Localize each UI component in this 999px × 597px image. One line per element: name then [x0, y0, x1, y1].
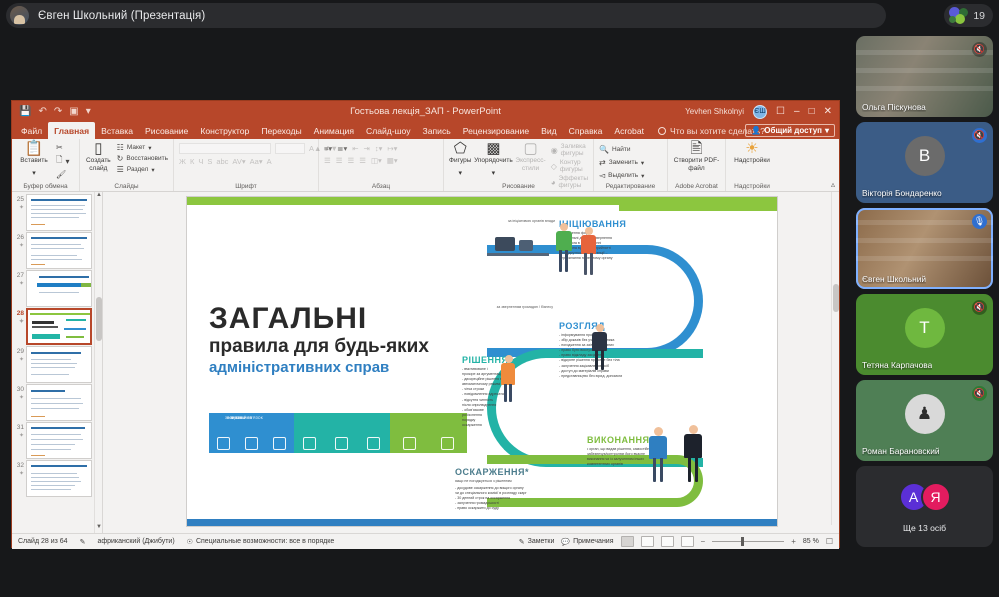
slide-top-accent-bar: [187, 197, 777, 205]
group-label-slides: Слайды: [80, 183, 173, 190]
ribbon-group-editing: 🔍Найти ⇄Заменить▾ ◅Выделить▾ Редактирова…: [594, 139, 668, 191]
tab-view[interactable]: Вид: [535, 122, 563, 139]
chevron-down-icon: ▾: [641, 172, 644, 180]
participant-name: Ольга Піскунова: [862, 102, 926, 112]
language-indicator[interactable]: африканский (Джибути): [97, 538, 174, 545]
thumbnail-item[interactable]: 26✦: [12, 232, 102, 270]
zoom-level[interactable]: 85 %: [803, 538, 819, 545]
participant-name: Вікторія Бондаренко: [862, 188, 942, 198]
ribbon-group-paragraph: ≡▾ ≣▾ ⇤ ⇥ ↕▾ ↦▾ ☰ ☰ ☰ ☰ ◫▾ ▦▾: [319, 139, 444, 191]
participant-tile[interactable]: 🔇 В Вікторія Бондаренко: [856, 122, 993, 203]
thumbnail-item[interactable]: 27✦: [12, 270, 102, 308]
slide-bottom-accent-bar: [187, 519, 777, 526]
active-slide[interactable]: ЗАГАЛЬНІ правила для будь-яких адміністр…: [186, 196, 778, 527]
layout-label: Макет: [127, 144, 145, 151]
thumbnail-number: 31: [17, 424, 24, 431]
scroll-up-icon[interactable]: ▲: [95, 192, 103, 201]
lightbulb-icon: [658, 127, 666, 135]
group-label-acrobat: Adobe Acrobat: [668, 183, 725, 190]
change-case-icon[interactable]: Aa▾: [250, 157, 263, 166]
section-heading: РОЗГЛЯД: [559, 321, 669, 331]
presenter-avatar: [10, 6, 29, 25]
section-heading: ОСКАРЖЕННЯ*: [455, 467, 585, 477]
participant-name: Роман Барановский: [862, 446, 940, 456]
tag-citizen-request: за зверненням громадян / бізнесу: [477, 305, 553, 310]
desk-illustration: [487, 233, 549, 271]
thumbnail-item[interactable]: 32✦: [12, 460, 102, 498]
section-label: Раздел: [127, 166, 148, 173]
thumbnail-item[interactable]: 30✦: [12, 384, 102, 422]
tab-design[interactable]: Конструктор: [194, 122, 255, 139]
copy-icon: 🗋: [56, 154, 62, 168]
italic-icon[interactable]: К: [190, 157, 194, 166]
thumbnail-number: 25: [17, 196, 24, 203]
tab-help[interactable]: Справка: [563, 122, 609, 139]
present-icon[interactable]: ▣: [69, 107, 78, 117]
tab-slideshow[interactable]: Слайд-шоу: [360, 122, 417, 139]
ribbon-group-addins: ☀ Надстройки Надстройки: [726, 139, 778, 191]
replace-button[interactable]: ⇄Заменить▾: [599, 158, 644, 167]
icon-bar-segment-feedback: ЗВОРОТНІЙ ЗВ'ЯЗОК: [294, 413, 390, 453]
ribbon-group-slides: ▯ Создать слайд ☷Макет▾ ↻Восстановить ☰Р…: [80, 139, 174, 191]
more-avatars: А Я: [899, 482, 951, 512]
create-pdf-button[interactable]: 🖹 Створити PDF-файл: [673, 141, 720, 172]
mic-muted-icon: 🔇: [972, 42, 987, 57]
group-label-clipboard: Буфер обмена: [12, 183, 79, 190]
slideshow-view-button[interactable]: [681, 536, 694, 547]
presenter-title: Євген Школьний (Презентація): [38, 10, 205, 22]
layout-button[interactable]: ☷Макет▾: [117, 143, 168, 152]
mic-muted-icon: 🔇: [972, 128, 987, 143]
zoom-out-button[interactable]: −: [701, 537, 706, 546]
replace-icon: ⇄: [599, 158, 606, 167]
layout-icon: ☷: [117, 143, 124, 152]
tab-record[interactable]: Запись: [417, 122, 457, 139]
align-left-icon[interactable]: ☰: [324, 156, 331, 165]
find-button[interactable]: 🔍Найти: [599, 145, 644, 154]
thumbnail-preview[interactable]: [26, 460, 92, 497]
numbering-icon[interactable]: ≣▾: [337, 144, 347, 153]
shadow-icon[interactable]: S: [207, 157, 212, 166]
tab-home[interactable]: Главная: [48, 122, 95, 139]
restore-button[interactable]: □: [809, 107, 815, 117]
editor-body: 25✦ 26✦: [12, 192, 839, 533]
char-spacing-icon[interactable]: AV▾: [232, 157, 245, 166]
participant-tile[interactable]: 🔇 Т Тетяна Карпачова: [856, 294, 993, 375]
paste-icon: 📋: [25, 141, 44, 156]
zoom-slider[interactable]: [712, 541, 784, 543]
conference-top-bar: Євген Школьний (Презентація) 19: [0, 0, 999, 31]
font-family-select[interactable]: [179, 143, 271, 154]
shape-outline-icon: ◇: [551, 162, 557, 171]
ribbon-tab-strip: Файл Главная Вставка Рисование Конструкт…: [12, 122, 839, 139]
account-name: Yevhen Shkolnyi: [685, 107, 744, 116]
scrollbar-thumb[interactable]: [833, 284, 839, 312]
increase-indent-icon[interactable]: ⇥: [364, 144, 370, 153]
scissors-icon: ✂: [56, 143, 63, 152]
scroll-down-icon[interactable]: ▼: [95, 524, 103, 533]
bold-icon[interactable]: Ж: [179, 157, 186, 166]
slide-accent-block: [619, 205, 778, 211]
more-participants-label: Ще 13 осіб: [856, 523, 993, 533]
group-label-addins: Надстройки: [726, 183, 778, 190]
thumbnail-preview[interactable]: [26, 270, 92, 307]
thumbnail-number: 32: [17, 462, 24, 469]
slide-title-line2: правила для будь-яких: [209, 335, 489, 358]
close-button[interactable]: ✕: [824, 107, 832, 117]
chevron-down-icon: ▾: [825, 126, 829, 135]
line-spacing-icon[interactable]: ↕▾: [375, 144, 383, 153]
shape-fill-button[interactable]: ◉Заливка фигуры: [551, 143, 588, 157]
participant-name: Євген Школьний: [862, 274, 926, 284]
notes-button[interactable]: ✎ Заметки: [519, 538, 555, 546]
decrease-indent-icon[interactable]: ⇤: [352, 144, 358, 153]
pdf-icon: 🖹: [690, 141, 702, 156]
animation-star-icon: ✦: [14, 204, 24, 212]
chevron-down-icon: ▾: [148, 144, 151, 152]
monitor-icon: [495, 237, 515, 251]
section-initiation: ІНІЦІЮВАННЯ - спрощення форми - мінімаль…: [559, 219, 669, 262]
thumbnail-number: 28: [17, 310, 24, 317]
thumbnail-preview[interactable]: [26, 194, 92, 231]
title-bar-right: Yevhen Shkolnyi ЄШ ☐ – □ ✕: [685, 105, 839, 119]
accessibility-icon: ☉: [187, 538, 193, 546]
align-right-icon[interactable]: ☰: [347, 156, 354, 165]
arrange-icon: ▩: [486, 141, 500, 156]
minimize-button[interactable]: –: [794, 107, 800, 117]
group-label-font: Шрифт: [174, 183, 318, 190]
avatar: Т: [905, 308, 945, 348]
paste-button[interactable]: 📋 Вставить ▾: [17, 141, 51, 181]
find-label: Найти: [612, 146, 631, 153]
slide-thumbnail-pane[interactable]: 25✦ 26✦: [12, 192, 103, 533]
addins-icon: ☀: [745, 141, 758, 156]
form-icon: [273, 437, 286, 450]
text-direction-icon[interactable]: ↦▾: [387, 144, 397, 153]
account-avatar[interactable]: ЄШ: [753, 105, 767, 119]
normal-view-button[interactable]: [621, 536, 634, 547]
redo-icon[interactable]: ↷: [54, 107, 62, 117]
align-center-icon[interactable]: ☰: [336, 156, 343, 165]
accessibility-label: Специальные возможности: все в порядке: [196, 538, 334, 545]
chevron-down-icon: ▾: [151, 166, 154, 174]
bullets-icon[interactable]: ≡▾: [324, 144, 332, 153]
reset-icon: ↻: [117, 154, 124, 163]
quick-access-toolbar: 💾 ↶ ↷ ▣ ▾: [12, 107, 91, 117]
section-subtitle: якщо не погоджується з рішенням: [455, 479, 585, 484]
participant-count: 19: [973, 10, 985, 22]
ribbon-group-clipboard: 📋 Вставить ▾ ✂ 🗋▾ 🖌 Буфер обмена: [12, 139, 80, 191]
thumbnail-number: 26: [17, 234, 24, 241]
ribbon-group-acrobat: 🖹 Створити PDF-файл Adobe Acrobat: [668, 139, 726, 191]
tab-animations[interactable]: Анимация: [308, 122, 360, 139]
section-bullets: - спрощення форми - мінімальні дані для …: [559, 231, 669, 262]
animation-star-icon: ✦: [14, 356, 24, 364]
status-bar: Слайд 28 из 64 ✎ африканский (Джибути) ☉…: [12, 533, 839, 549]
slide-sorter-view-button[interactable]: [641, 536, 654, 547]
addins-button[interactable]: ☀ Надстройки: [731, 141, 773, 165]
notes-icon: ✎: [519, 538, 525, 546]
zoom-in-button[interactable]: +: [791, 537, 796, 546]
reading-view-button[interactable]: [661, 536, 674, 547]
thumbnail-number: 30: [17, 386, 24, 393]
participant-count-pill[interactable]: 19: [944, 4, 993, 27]
slide-title-block: ЗАГАЛЬНІ правила для будь-яких адміністр…: [209, 303, 489, 377]
slide-title-line1: ЗАГАЛЬНІ: [209, 303, 489, 335]
justify-icon[interactable]: ☰: [359, 156, 366, 165]
mic-muted-icon: 🔇: [972, 386, 987, 401]
format-painter-button[interactable]: 🖌: [56, 170, 69, 179]
powerpoint-window: 💾 ↶ ↷ ▣ ▾ Гостьова лекція_ЗАП - PowerPoi…: [11, 100, 840, 548]
thumbnail-item[interactable]: 29✦: [12, 346, 102, 384]
quick-styles-icon: ▢: [523, 141, 537, 156]
chevron-down-icon[interactable]: ▾: [32, 166, 36, 181]
person-icon: [217, 437, 230, 450]
thumbnail-scrollbar[interactable]: ▲ ▼: [94, 192, 102, 533]
group-label-drawing: Рисование: [444, 183, 593, 190]
thumbnail-number: 27: [17, 272, 24, 279]
section-consideration: РОЗГЛЯД - інформування про розгляд - збі…: [559, 321, 669, 379]
section-appeal: ОСКАРЖЕННЯ* якщо не погоджується з рішен…: [455, 467, 585, 511]
section-heading: ІНІЦІЮВАННЯ: [559, 219, 669, 229]
animation-star-icon: ✦: [14, 318, 24, 326]
share-icon: 👤: [751, 126, 761, 135]
undo-icon[interactable]: ↶: [38, 107, 46, 117]
comments-button[interactable]: 💬 Примечания: [561, 538, 613, 546]
reset-button[interactable]: ↻Восстановить: [117, 154, 168, 163]
collapse-ribbon-icon[interactable]: ▵: [831, 180, 835, 189]
mic-muted-icon: 🔇: [972, 300, 987, 315]
shapes-label: Фигуры: [449, 157, 471, 165]
share-label: Общий доступ: [764, 126, 822, 135]
clock-icon: [367, 437, 380, 450]
font-color-icon[interactable]: A: [267, 157, 272, 166]
slide-canvas-area: ЗАГАЛЬНІ правила для будь-яких адміністр…: [103, 192, 839, 533]
thumbnail-preview[interactable]: [26, 422, 92, 459]
presenter-title-pill[interactable]: Євген Школьний (Презентація): [6, 3, 886, 28]
shape-fill-label: Заливка фигуры: [561, 143, 588, 157]
new-slide-button[interactable]: ▯ Создать слайд: [85, 141, 112, 172]
thumbnail-item-selected[interactable]: 28✦: [12, 308, 102, 346]
thumbnail-preview[interactable]: [26, 232, 92, 269]
check-icon: [403, 437, 416, 450]
avatar: Я: [921, 482, 951, 512]
scales-icon: [335, 437, 348, 450]
group-label-editing: Редактирование: [594, 183, 667, 190]
tab-transitions[interactable]: Переходы: [255, 122, 307, 139]
animation-star-icon: ✦: [14, 242, 24, 250]
tag-initiated-by-authority: за ініціативою органів влади: [487, 219, 555, 224]
group-label-paragraph: Абзац: [319, 183, 443, 190]
replace-label: Заменить: [609, 159, 638, 166]
shapes-icon: ⬠: [454, 141, 467, 156]
new-slide-icon: ▯: [94, 141, 102, 156]
icon-bar-segment-final: ФІНАЛ: [390, 413, 467, 453]
comments-label: Примечания: [573, 538, 613, 545]
fit-to-window-icon[interactable]: ☐: [826, 537, 833, 546]
powerpoint-title-bar: 💾 ↶ ↷ ▣ ▾ Гостьова лекція_ЗАП - PowerPoi…: [12, 101, 839, 122]
customize-quick-access-icon[interactable]: ▾: [86, 107, 91, 117]
notes-label: Заметки: [528, 538, 555, 545]
brush-icon: 🖌: [56, 170, 66, 179]
tab-review[interactable]: Рецензирование: [457, 122, 535, 139]
animation-star-icon: ✦: [14, 280, 24, 288]
underline-icon[interactable]: Ч: [198, 157, 203, 166]
thumbnail-preview[interactable]: [26, 308, 92, 345]
shapes-button[interactable]: ⬠ Фигуры ▾: [449, 141, 471, 181]
document-icon: [245, 437, 258, 450]
more-participants-tile[interactable]: А Я Ще 13 осіб: [856, 466, 993, 547]
monitor-secondary-icon: [519, 240, 533, 251]
slide-title-line3: адміністративних справ: [209, 358, 489, 377]
shape-outline-label: Контур фигуры: [560, 159, 588, 173]
thumbnail-item[interactable]: 31✦: [12, 422, 102, 460]
arrange-button[interactable]: ▩ Упорядочить ▾: [476, 141, 510, 181]
conference-presentation-screen: Євген Школьний (Презентація) 19 💾 ↶ ↷ ▣ …: [0, 0, 999, 597]
strikethrough-icon[interactable]: abc: [216, 157, 228, 166]
accessibility-indicator[interactable]: ☉ Специальные возможности: все в порядке: [187, 538, 335, 546]
participant-tile[interactable]: 🔇 ♟ Роман Барановский: [856, 380, 993, 461]
reset-label: Восстановить: [126, 155, 168, 162]
participant-rail: 🔇 Ольга Піскунова 🔇 В Вікторія Бондаренк…: [850, 36, 999, 589]
participant-tile[interactable]: 🔇 Ольга Піскунова: [856, 36, 993, 117]
spellcheck-icon[interactable]: ✎: [80, 538, 86, 546]
tab-acrobat[interactable]: Acrobat: [608, 122, 650, 139]
shape-fill-icon: ◉: [551, 146, 558, 155]
new-slide-label: Создать слайд: [85, 157, 112, 172]
copy-button[interactable]: 🗋▾: [56, 154, 69, 168]
thumbnail-preview[interactable]: [26, 346, 92, 383]
slide-indicator[interactable]: Слайд 28 из 64: [18, 538, 68, 545]
tab-file[interactable]: Файл: [15, 122, 48, 139]
comment-icon: 💬: [561, 538, 570, 546]
people-icon: [949, 7, 969, 24]
section-bullets: - інформування про розгляд - збір доказі…: [559, 333, 669, 379]
chat-icon: [303, 437, 316, 450]
save-icon[interactable]: 💾: [19, 107, 31, 117]
ribbon: 📋 Вставить ▾ ✂ 🗋▾ 🖌 Буфер обмена ▯ Созда…: [12, 139, 839, 192]
ribbon-display-options-icon[interactable]: ☐: [776, 107, 785, 117]
convert-smartart-icon[interactable]: ▦▾: [387, 156, 398, 165]
thumbnail-preview[interactable]: [26, 384, 92, 421]
section-icon: ☰: [117, 165, 124, 174]
font-size-select[interactable]: [275, 143, 305, 154]
participant-tile-speaking[interactable]: 🎙 Євген Школьний: [856, 208, 993, 289]
gavel-icon: [441, 437, 454, 450]
canvas-vertical-scrollbar[interactable]: [831, 192, 839, 525]
avatar: ♟: [905, 394, 945, 434]
share-button[interactable]: 👤 Общий доступ ▾: [745, 124, 835, 137]
ribbon-group-drawing: ⬠ Фигуры ▾ ▩ Упорядочить ▾ ▢ Экспресс-ст…: [444, 139, 594, 191]
chevron-down-icon: ▾: [65, 157, 69, 166]
chevron-down-icon: ▾: [641, 159, 644, 167]
select-icon: ◅: [599, 171, 605, 180]
arrange-label: Упорядочить: [474, 157, 513, 165]
animation-star-icon: ✦: [14, 394, 24, 402]
section-bullets: - досудове оскарження до вищого органу ч…: [455, 486, 585, 511]
addins-label: Надстройки: [734, 157, 770, 165]
columns-icon[interactable]: ◫▾: [371, 156, 382, 165]
chevron-down-icon[interactable]: ▾: [458, 166, 462, 181]
chevron-down-icon[interactable]: ▾: [492, 166, 496, 181]
mic-active-icon: 🎙: [972, 214, 987, 229]
quick-styles-button[interactable]: ▢ Экспресс-стили: [515, 141, 545, 172]
select-button[interactable]: ◅Выделить▾: [599, 171, 644, 180]
icon-bar-label-3: ФІНАЛ: [231, 416, 243, 420]
quick-styles-label: Экспресс-стили: [515, 157, 545, 172]
cut-button[interactable]: ✂: [56, 143, 69, 152]
slide-icon-bar: ІНІЦІЮВАННЯ ЗВОРОТНІЙ ЗВ'ЯЗОК: [209, 413, 467, 453]
ribbon-group-font: A▲ A▼ Ж К Ч S abc AV▾ Aa▾ A Шрифт: [174, 139, 319, 191]
search-icon: 🔍: [599, 145, 609, 154]
animation-star-icon: ✦: [14, 432, 24, 440]
paste-label: Вставить: [20, 157, 48, 165]
zoom-slider-handle[interactable]: [741, 537, 744, 546]
section-button[interactable]: ☰Раздел▾: [117, 165, 168, 174]
avatar: В: [905, 136, 945, 176]
animation-star-icon: ✦: [14, 470, 24, 478]
tab-draw[interactable]: Рисование: [139, 122, 194, 139]
tab-insert[interactable]: Вставка: [95, 122, 139, 139]
thumbnail-item[interactable]: 25✦: [12, 194, 102, 232]
thumbnail-number: 29: [17, 348, 24, 355]
select-label: Выделить: [608, 172, 638, 179]
shape-outline-button[interactable]: ◇Контур фигуры: [551, 159, 588, 173]
create-pdf-label: Створити PDF-файл: [673, 157, 720, 172]
participant-name: Тетяна Карпачова: [862, 360, 932, 370]
scrollbar-thumb[interactable]: [96, 297, 102, 341]
